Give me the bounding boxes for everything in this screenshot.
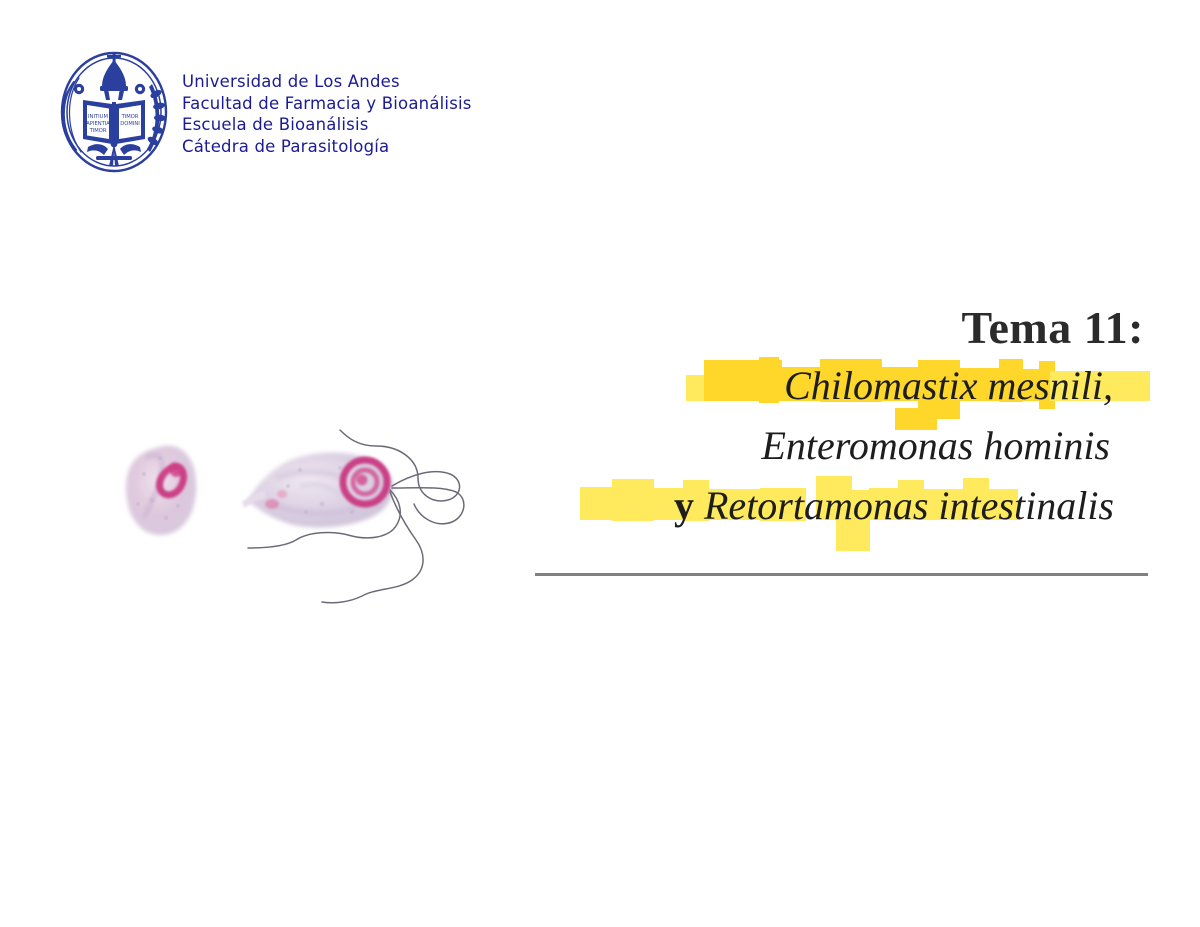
title-divider-rule [535, 573, 1148, 576]
species-line-chilomastix: Chilomastix mesnili, [520, 356, 1160, 416]
species-line-enteromonas: Enteromonas hominis [520, 416, 1160, 476]
title-block: Tema 11: Chilomastix mesnili, Enteromona… [520, 300, 1160, 536]
specimen-trophozoite [242, 452, 393, 527]
affiliation-line-school: Escuela de Bioanálisis [182, 114, 472, 136]
conjunction-y: y [674, 483, 704, 528]
svg-text:DOMINI: DOMINI [120, 121, 140, 127]
affiliation-line-chair: Cátedra de Parasitología [182, 136, 472, 158]
svg-text:TIMOR: TIMOR [121, 114, 139, 120]
svg-text:INITIUM: INITIUM [88, 114, 108, 120]
species-name-retortamonas: Retortamonas intestinalis [704, 483, 1114, 528]
affiliation-text: Universidad de Los Andes Facultad de Far… [182, 71, 472, 157]
species-line-retortamonas: y Retortamonas intestinalis [520, 476, 1160, 536]
species-name-chilomastix: Chilomastix mesnili, [784, 363, 1113, 408]
svg-text:TIMOR: TIMOR [89, 128, 107, 134]
ula-coat-of-arms-icon: INITIUM SAPIENTIAE TIMOR TIMOR DOMINI [52, 48, 176, 180]
species-name-enteromonas: Enteromonas hominis [761, 423, 1110, 468]
affiliation-line-faculty: Facultad de Farmacia y Bioanálisis [182, 93, 472, 115]
institution-header: INITIUM SAPIENTIAE TIMOR TIMOR DOMINI Un… [52, 48, 472, 180]
svg-text:SAPIENTIAE: SAPIENTIAE [83, 121, 113, 127]
page-title: Tema 11: [520, 300, 1160, 356]
affiliation-line-university: Universidad de Los Andes [182, 71, 472, 93]
parasite-micrograph [100, 408, 490, 613]
slide-canvas: INITIUM SAPIENTIAE TIMOR TIMOR DOMINI Un… [0, 0, 1200, 927]
specimen-cyst [126, 446, 196, 535]
